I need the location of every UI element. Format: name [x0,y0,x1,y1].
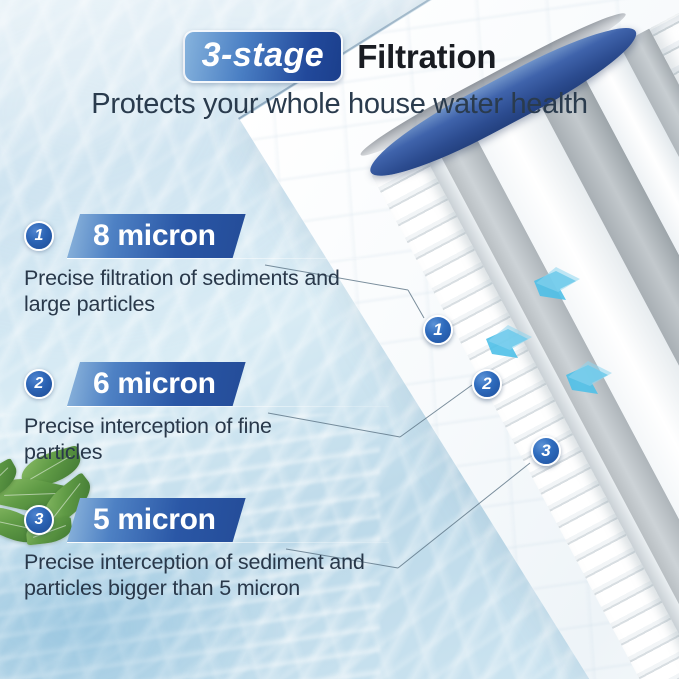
product-pin-2: 2 [472,369,502,399]
stage-2-ribbon: 6 micron [67,362,246,406]
three-stage-badge: 3-stage [183,30,344,83]
stage-2-description: Precise interception of fine particles [24,413,354,465]
stage-2-micron-label: 6 micron [93,367,216,401]
stage-1-header: 1 8 micron [24,214,354,258]
stage-3-number: 3 [24,505,54,535]
stage-1-number: 1 [24,221,54,251]
stage-3-header: 3 5 micron [24,498,384,542]
stage-callout-1: 1 8 micron Precise filtration of sedimen… [24,214,354,317]
stage-1-description: Precise filtration of sediments and larg… [24,265,354,317]
stage-callout-2: 2 6 micron Precise interception of fine … [24,362,354,465]
stage-callout-3: 3 5 micron Precise interception of sedim… [24,498,384,601]
header-title-row: 3-stage Filtration [0,30,679,83]
stage-2-hairline [67,406,389,407]
stage-1-micron-label: 8 micron [93,219,216,253]
page-title: Filtration [357,38,496,76]
product-pin-3: 3 [531,436,561,466]
page-subtitle: Protects your whole house water health [0,88,679,121]
stage-3-hairline [67,542,389,543]
stage-3-micron-label: 5 micron [93,503,216,537]
stage-2-number: 2 [24,369,54,399]
stage-3-description: Precise interception of sediment and par… [24,549,384,601]
stage-1-hairline [67,258,389,259]
stage-2-header: 2 6 micron [24,362,354,406]
stage-1-ribbon: 8 micron [67,214,246,258]
product-pin-1: 1 [423,315,453,345]
infographic-canvas: 1 2 3 3-stage Filtration Protects your w… [0,0,679,679]
stage-3-ribbon: 5 micron [67,498,246,542]
